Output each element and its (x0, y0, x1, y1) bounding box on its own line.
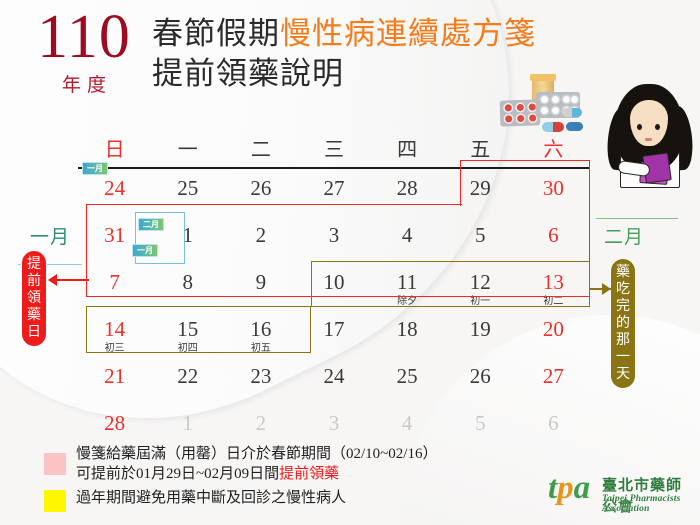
calendar-day-number: 7 (78, 264, 151, 296)
calendar-week-row: 21222324252627 (78, 358, 590, 405)
legend-yellow-line1: 過年期間避免用藥中斷及回診之慢性病人 (76, 488, 346, 508)
calendar-day-number: 21 (78, 358, 151, 390)
badge-left-char-0: 提 (24, 256, 44, 273)
legend-text-yellow: 過年期間避免用藥中斷及回診之慢性病人 (76, 488, 346, 508)
calendar-day-cell[interactable]: 8 (151, 264, 224, 311)
calendar-day-cell[interactable]: 5 (444, 217, 517, 264)
calendar-day-number: 5 (444, 217, 517, 249)
weekday-thursday: 四 (371, 133, 444, 167)
calendar-day-number: 4 (371, 405, 444, 437)
calendar-day-number: 14 (78, 311, 151, 343)
capsule-red-icon (542, 122, 564, 132)
poster-root: 110 年度 春節假期慢性病連續處方箋 提前領藥說明 (0, 0, 700, 525)
calendar-day-cell[interactable]: 27 (297, 170, 370, 217)
calendar-day-cell[interactable]: 16初五 (224, 311, 297, 358)
calendar-day-cell[interactable]: 24 (78, 170, 151, 217)
calendar-day-number: 17 (297, 311, 370, 343)
pharmacist-illustration (600, 80, 700, 188)
calendar-day-cell[interactable]: 21 (78, 358, 151, 405)
legend-pink-line2-highlight: 提前領藥 (279, 466, 339, 482)
calendar-day-cell[interactable]: 6 (517, 217, 590, 264)
calendar-weekday-header-row: 日 一 二 三 四 五 六 (78, 133, 590, 167)
title-prefix: 春節假期 (152, 16, 280, 51)
badge-left-char-2: 領 (24, 290, 44, 307)
tpa-name-en: Taipei Pharmacists Association (602, 494, 694, 514)
weekday-monday: 一 (151, 133, 224, 167)
badge-pickup-day: 提 前 領 藥 日 (21, 250, 47, 347)
calendar-day-cell[interactable]: 27 (517, 358, 590, 405)
calendar-day-number: 25 (151, 170, 224, 202)
legend-pink-line1: 慢箋給藥屆滿（用罄）日介於春節期間（02/10~02/16） (76, 444, 437, 464)
calendar-day-cell[interactable]: 11除夕 (371, 264, 444, 311)
badge-right-char-4: 那 (613, 332, 633, 349)
legend-text-pink: 慢箋給藥屆滿（用罄）日介於春節期間（02/10~02/16） 可提前於01月29… (76, 444, 437, 484)
pills-illustration (500, 78, 586, 140)
calendar-day-number: 30 (517, 170, 590, 202)
year-suffix-label: 年度 (20, 70, 154, 97)
calendar-day-number: 15 (151, 311, 224, 343)
calendar-day-number: 13 (517, 264, 590, 296)
calendar-week-row: 14初三15初四16初五17181920 (78, 311, 590, 358)
calendar-day-number: 9 (224, 264, 297, 296)
calendar-day-cell[interactable]: 15初四 (151, 311, 224, 358)
calendar-day-lunar-label: 初二 (517, 296, 590, 307)
calendar-day-cell[interactable]: 4 (371, 217, 444, 264)
calendar-day-cell[interactable]: 3 (297, 217, 370, 264)
calendar-day-number: 20 (517, 311, 590, 343)
calendar-day-cell[interactable]: 9 (224, 264, 297, 311)
year-block: 110 年度 (14, 6, 154, 97)
divider-right-green (596, 218, 678, 219)
capsule-grey-icon (562, 108, 582, 117)
calendar-day-rows: 24252627282930311234567891011除夕12初一13初二1… (78, 170, 590, 452)
tpa-wordmark: tpa (548, 472, 590, 505)
calendar-day-number: 27 (517, 358, 590, 390)
calendar-day-number: 28 (371, 170, 444, 202)
calendar-day-cell[interactable]: 25 (371, 358, 444, 405)
title-highlight: 慢性病連續處方箋 (280, 16, 536, 51)
month-chip-feb-row2: 二月 (138, 218, 164, 231)
calendar-day-number: 26 (224, 170, 297, 202)
calendar-day-number: 5 (444, 405, 517, 437)
calendar-day-cell[interactable]: 18 (371, 311, 444, 358)
calendar-day-cell[interactable]: 14初三 (78, 311, 151, 358)
calendar: 日 一 二 三 四 五 六 24252627282930311234567891… (78, 133, 590, 452)
legend-item-yellow: 過年期間避免用藥中斷及回診之慢性病人 (44, 488, 564, 512)
tablet-blue-icon (566, 122, 583, 131)
calendar-day-cell[interactable]: 7 (78, 264, 151, 311)
calendar-day-number: 23 (224, 358, 297, 390)
calendar-day-cell[interactable]: 24 (297, 358, 370, 405)
calendar-day-cell[interactable]: 19 (444, 311, 517, 358)
badge-right-char-3: 的 (613, 315, 633, 332)
calendar-day-number: 26 (444, 358, 517, 390)
calendar-day-number: 25 (371, 358, 444, 390)
calendar-day-cell[interactable]: 29 (444, 170, 517, 217)
calendar-day-number: 16 (224, 311, 297, 343)
tpa-letter-p: p (557, 470, 574, 506)
calendar-day-lunar-label: 初五 (224, 343, 297, 354)
calendar-day-number: 6 (517, 405, 590, 437)
calendar-day-cell[interactable]: 2 (224, 217, 297, 264)
calendar-day-cell[interactable]: 10 (297, 264, 370, 311)
calendar-day-cell[interactable]: 25 (151, 170, 224, 217)
calendar-day-number: 19 (444, 311, 517, 343)
title-line-2: 提前領藥說明 (152, 54, 552, 94)
badge-left-char-1: 前 (24, 273, 44, 290)
calendar-day-cell[interactable]: 12初一 (444, 264, 517, 311)
calendar-day-cell[interactable]: 26 (444, 358, 517, 405)
calendar-day-lunar-label: 初一 (444, 296, 517, 307)
badge-right-char-1: 吃 (613, 281, 633, 298)
tpa-letter-a: a (574, 470, 591, 506)
calendar-day-number: 3 (297, 217, 370, 249)
weekday-saturday: 六 (517, 133, 590, 167)
month-label-left: 一月 (30, 222, 70, 249)
bottle-cap-icon (530, 74, 556, 81)
calendar-day-number: 2 (224, 217, 297, 249)
calendar-day-lunar-label: 初三 (78, 343, 151, 354)
calendar-day-cell[interactable]: 26 (224, 170, 297, 217)
badge-right-char-5: 一 (613, 349, 633, 366)
month-chip-jan-row1: 一月 (82, 162, 108, 175)
legend-item-pink: 慢箋給藥屆滿（用罄）日介於春節期間（02/10~02/16） 可提前於01月29… (44, 444, 564, 484)
calendar-day-number: 29 (444, 170, 517, 202)
legend-pink-line2-a: 可提前於01月29日~02月09日間 (76, 466, 279, 482)
blister-pack-red-icon (500, 99, 541, 126)
calendar-day-cell[interactable]: 20 (517, 311, 590, 358)
calendar-day-number: 8 (151, 264, 224, 296)
calendar-day-number: 18 (371, 311, 444, 343)
weekday-friday: 五 (444, 133, 517, 167)
calendar-week-row: 7891011除夕12初一13初二 (78, 264, 590, 311)
badge-right-char-2: 完 (613, 298, 633, 315)
badge-right-char-0: 藥 (613, 264, 633, 281)
calendar-day-number: 27 (297, 170, 370, 202)
badge-right-char-6: 天 (613, 366, 633, 383)
calendar-week-row: 24252627282930 (78, 170, 590, 217)
title-line-1: 春節假期慢性病連續處方箋 (152, 14, 552, 54)
calendar-day-number: 6 (517, 217, 590, 249)
calendar-day-number: 10 (297, 264, 370, 296)
calendar-day-number: 11 (371, 264, 444, 296)
badge-medicine-finished-day: 藥 吃 完 的 那 一 天 (610, 258, 636, 389)
calendar-day-cell[interactable]: 22 (151, 358, 224, 405)
legend: 慢箋給藥屆滿（用罄）日介於春節期間（02/10~02/16） 可提前於01月29… (44, 444, 564, 516)
badge-left-char-3: 藥 (24, 307, 44, 324)
page-title: 春節假期慢性病連續處方箋 提前領藥說明 (152, 14, 552, 94)
legend-swatch-yellow (44, 490, 66, 512)
calendar-day-lunar-label: 初四 (151, 343, 224, 354)
calendar-header-rule (78, 167, 590, 169)
month-label-right: 二月 (604, 222, 644, 249)
calendar-day-number: 24 (297, 358, 370, 390)
weekday-tuesday: 二 (224, 133, 297, 167)
month-chip-jan-row2: 一月 (132, 244, 158, 257)
calendar-day-number: 22 (151, 358, 224, 390)
calendar-day-lunar-label: 除夕 (371, 296, 444, 307)
calendar-day-number: 2 (224, 405, 297, 437)
calendar-day-number: 1 (151, 405, 224, 437)
legend-pink-line2: 可提前於01月29日~02月09日間提前領藥 (76, 464, 437, 484)
calendar-day-cell[interactable]: 17 (297, 311, 370, 358)
year-number: 110 (14, 6, 154, 68)
calendar-day-number: 4 (371, 217, 444, 249)
calendar-day-cell[interactable]: 30 (517, 170, 590, 217)
calendar-day-cell[interactable]: 13初二 (517, 264, 590, 311)
legend-swatch-pink (44, 453, 66, 475)
calendar-day-cell[interactable]: 28 (371, 170, 444, 217)
weekday-wednesday: 三 (297, 133, 370, 167)
tpa-logo: tpa 臺北市藥師公會 Taipei Pharmacists Associati… (548, 470, 694, 518)
badge-left-char-4: 日 (24, 324, 44, 341)
calendar-day-number: 12 (444, 264, 517, 296)
calendar-day-number: 3 (297, 405, 370, 437)
tpa-letter-t: t (548, 470, 557, 506)
calendar-day-cell[interactable]: 23 (224, 358, 297, 405)
calendar-day-number: 28 (78, 405, 151, 437)
